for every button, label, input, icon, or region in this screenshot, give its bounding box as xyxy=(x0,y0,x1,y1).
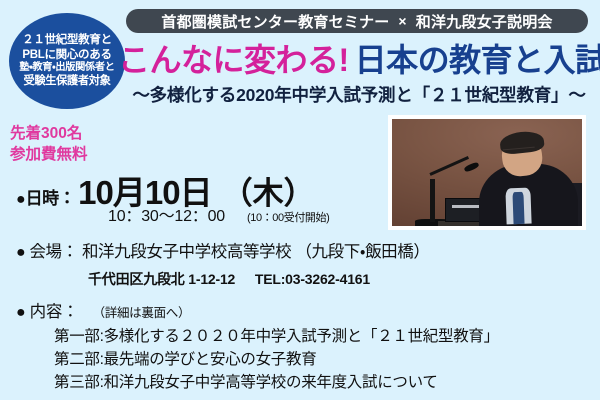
content-list: 第一部:多様化する２０２０年中学入試予測と「２１世紀型教育」 第二部:最先端の学… xyxy=(16,322,591,395)
audience-badge: ２１世紀型教育と PBLに関心のある 塾・教育・出版関係者と 受験生保護者対象 xyxy=(9,13,125,109)
page-title-pink: こんなに変わる! xyxy=(118,35,349,81)
venue-telephone: TEL:03-3262-4161 xyxy=(239,271,370,287)
audience-badge-line-1: ２１世紀型教育と xyxy=(22,33,112,47)
date-label: 日時： xyxy=(26,184,76,209)
content-detail-note: （詳細は裏面へ） xyxy=(83,306,191,320)
page-subtitle: 〜多様化する2020年中学入試予測と「２１世紀型教育」〜 xyxy=(122,82,596,107)
list-item: 第一部:多様化する２０２０年中学入試予測と「２１世紀型教育」 xyxy=(54,326,591,349)
seminar-flyer: ２１世紀型教育と PBLに関心のある 塾・教育・出版関係者と 受験生保護者対象 … xyxy=(0,0,600,400)
list-item: 第三部:和洋九段女子中学高等学校の来年度入試について xyxy=(54,372,591,395)
microphone-head-icon xyxy=(464,161,480,173)
speaker-tie xyxy=(512,192,525,224)
content-head: ● 内容： （詳細は裏面へ） xyxy=(16,298,591,322)
header-separator-icon: × xyxy=(389,13,415,29)
header-organizer: 首都圏模試センター教育セミナー xyxy=(161,11,389,32)
speaker-photo-image xyxy=(392,119,582,226)
venue-label: 会場： xyxy=(29,243,77,261)
content-row: ● 内容： （詳細は裏面へ） 第一部:多様化する２０２０年中学入試予測と「２１世… xyxy=(16,298,591,395)
audience-badge-line-4: 受験生保護者対象 xyxy=(23,75,110,89)
page-title: こんなに変わる! 日本の教育と入試 xyxy=(118,38,596,78)
header-school: 和洋九段女子説明会 xyxy=(416,11,553,32)
venue-name: 和洋九段女子中学校高等学校 xyxy=(82,243,291,261)
venue-bullet-icon: ● xyxy=(16,244,25,261)
venue-main: ● 会場： 和洋九段女子中学校高等学校 （九段下・飯田橋） xyxy=(16,238,586,262)
venue-row: ● 会場： 和洋九段女子中学校高等学校 （九段下・飯田橋） 千代田区九段北 1-… xyxy=(16,238,586,289)
capacity-notice: 先着300名 参加費無料 xyxy=(10,124,88,165)
venue-address: 千代田区九段北 1-12-12 xyxy=(88,271,235,287)
audience-badge-line-2: PBLに関心のある xyxy=(22,48,111,62)
date-reception-time: (10：00受付開始) xyxy=(225,209,329,225)
date-time-range: 10：30〜12：00 xyxy=(108,202,225,226)
venue-stations: （九段下・飯田橋） xyxy=(295,243,429,261)
capacity-notice-line-2: 参加費無料 xyxy=(10,145,88,166)
audience-badge-line-3: 塾・教育・出版関係者と xyxy=(19,62,114,75)
page-title-blue: 日本の教育と入試 xyxy=(349,35,600,81)
content-bullet-icon: ● xyxy=(16,304,25,321)
speaker-photo xyxy=(388,115,586,230)
content-label: 内容： xyxy=(30,303,79,321)
capacity-notice-line-1: 先着300名 xyxy=(10,124,88,145)
venue-address-line: 千代田区九段北 1-12-12 TEL:03-3262-4161 xyxy=(16,262,586,289)
list-item: 第二部:最先端の学びと安心の女子教育 xyxy=(54,349,591,372)
microphone-arm-icon xyxy=(429,156,468,176)
date-bullet-icon: ● xyxy=(16,191,26,209)
date-sub: 10：30〜12：00 (10：00受付開始) xyxy=(108,202,329,226)
microphone-stand-icon xyxy=(430,179,435,222)
date-row: ● 日時： 10月10日 （木） 10：30〜12：00 (10：00受付開始) xyxy=(16,166,396,222)
event-header-pill: 首都圏模試センター教育セミナー × 和洋九段女子説明会 xyxy=(126,9,588,33)
